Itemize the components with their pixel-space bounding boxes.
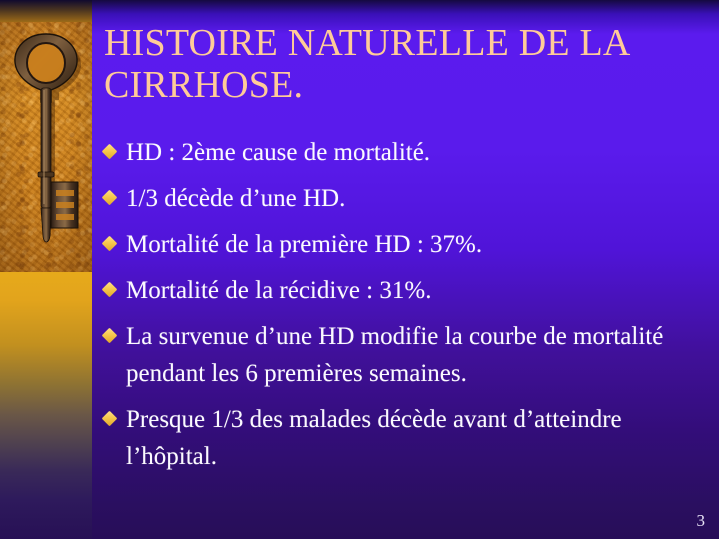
list-item-label: HD : 2ème cause de mortalité. <box>126 139 430 166</box>
list-item-label: La survenue d’une HD modifie la courbe d… <box>126 323 663 387</box>
list-item-label: Mortalité de la première HD : 37%. <box>126 231 482 258</box>
diamond-bullet-icon <box>102 328 118 344</box>
diamond-bullet-icon <box>102 144 118 160</box>
diamond-bullet-icon <box>102 411 118 427</box>
diamond-bullet-icon <box>102 236 118 252</box>
sand-texture-photo <box>0 22 92 272</box>
list-item: 1/3 décède d’une HD. <box>104 180 710 217</box>
diamond-bullet-icon <box>102 282 118 298</box>
list-item: Mortalité de la première HD : 37%. <box>104 226 710 263</box>
list-item-label: 1/3 décède d’une HD. <box>126 185 345 212</box>
left-decorative-band <box>0 0 92 539</box>
list-item: La survenue d’une HD modifie la courbe d… <box>104 318 710 392</box>
list-item-label: Mortalité de la récidive : 31%. <box>126 277 431 304</box>
slide-canvas: HISTOIRE NATURELLE DE LA CIRRHOSE. HD : … <box>0 0 719 539</box>
bullet-list: HD : 2ème cause de mortalité. 1/3 décède… <box>104 134 710 484</box>
page-number: 3 <box>697 511 706 531</box>
list-item: HD : 2ème cause de mortalité. <box>104 134 710 171</box>
slide-title: HISTOIRE NATURELLE DE LA CIRRHOSE. <box>104 22 704 106</box>
list-item: Presque 1/3 des malades décède avant d’a… <box>104 401 710 475</box>
list-item-label: Presque 1/3 des malades décède avant d’a… <box>126 406 622 470</box>
list-item: Mortalité de la récidive : 31%. <box>104 272 710 309</box>
diamond-bullet-icon <box>102 190 118 206</box>
